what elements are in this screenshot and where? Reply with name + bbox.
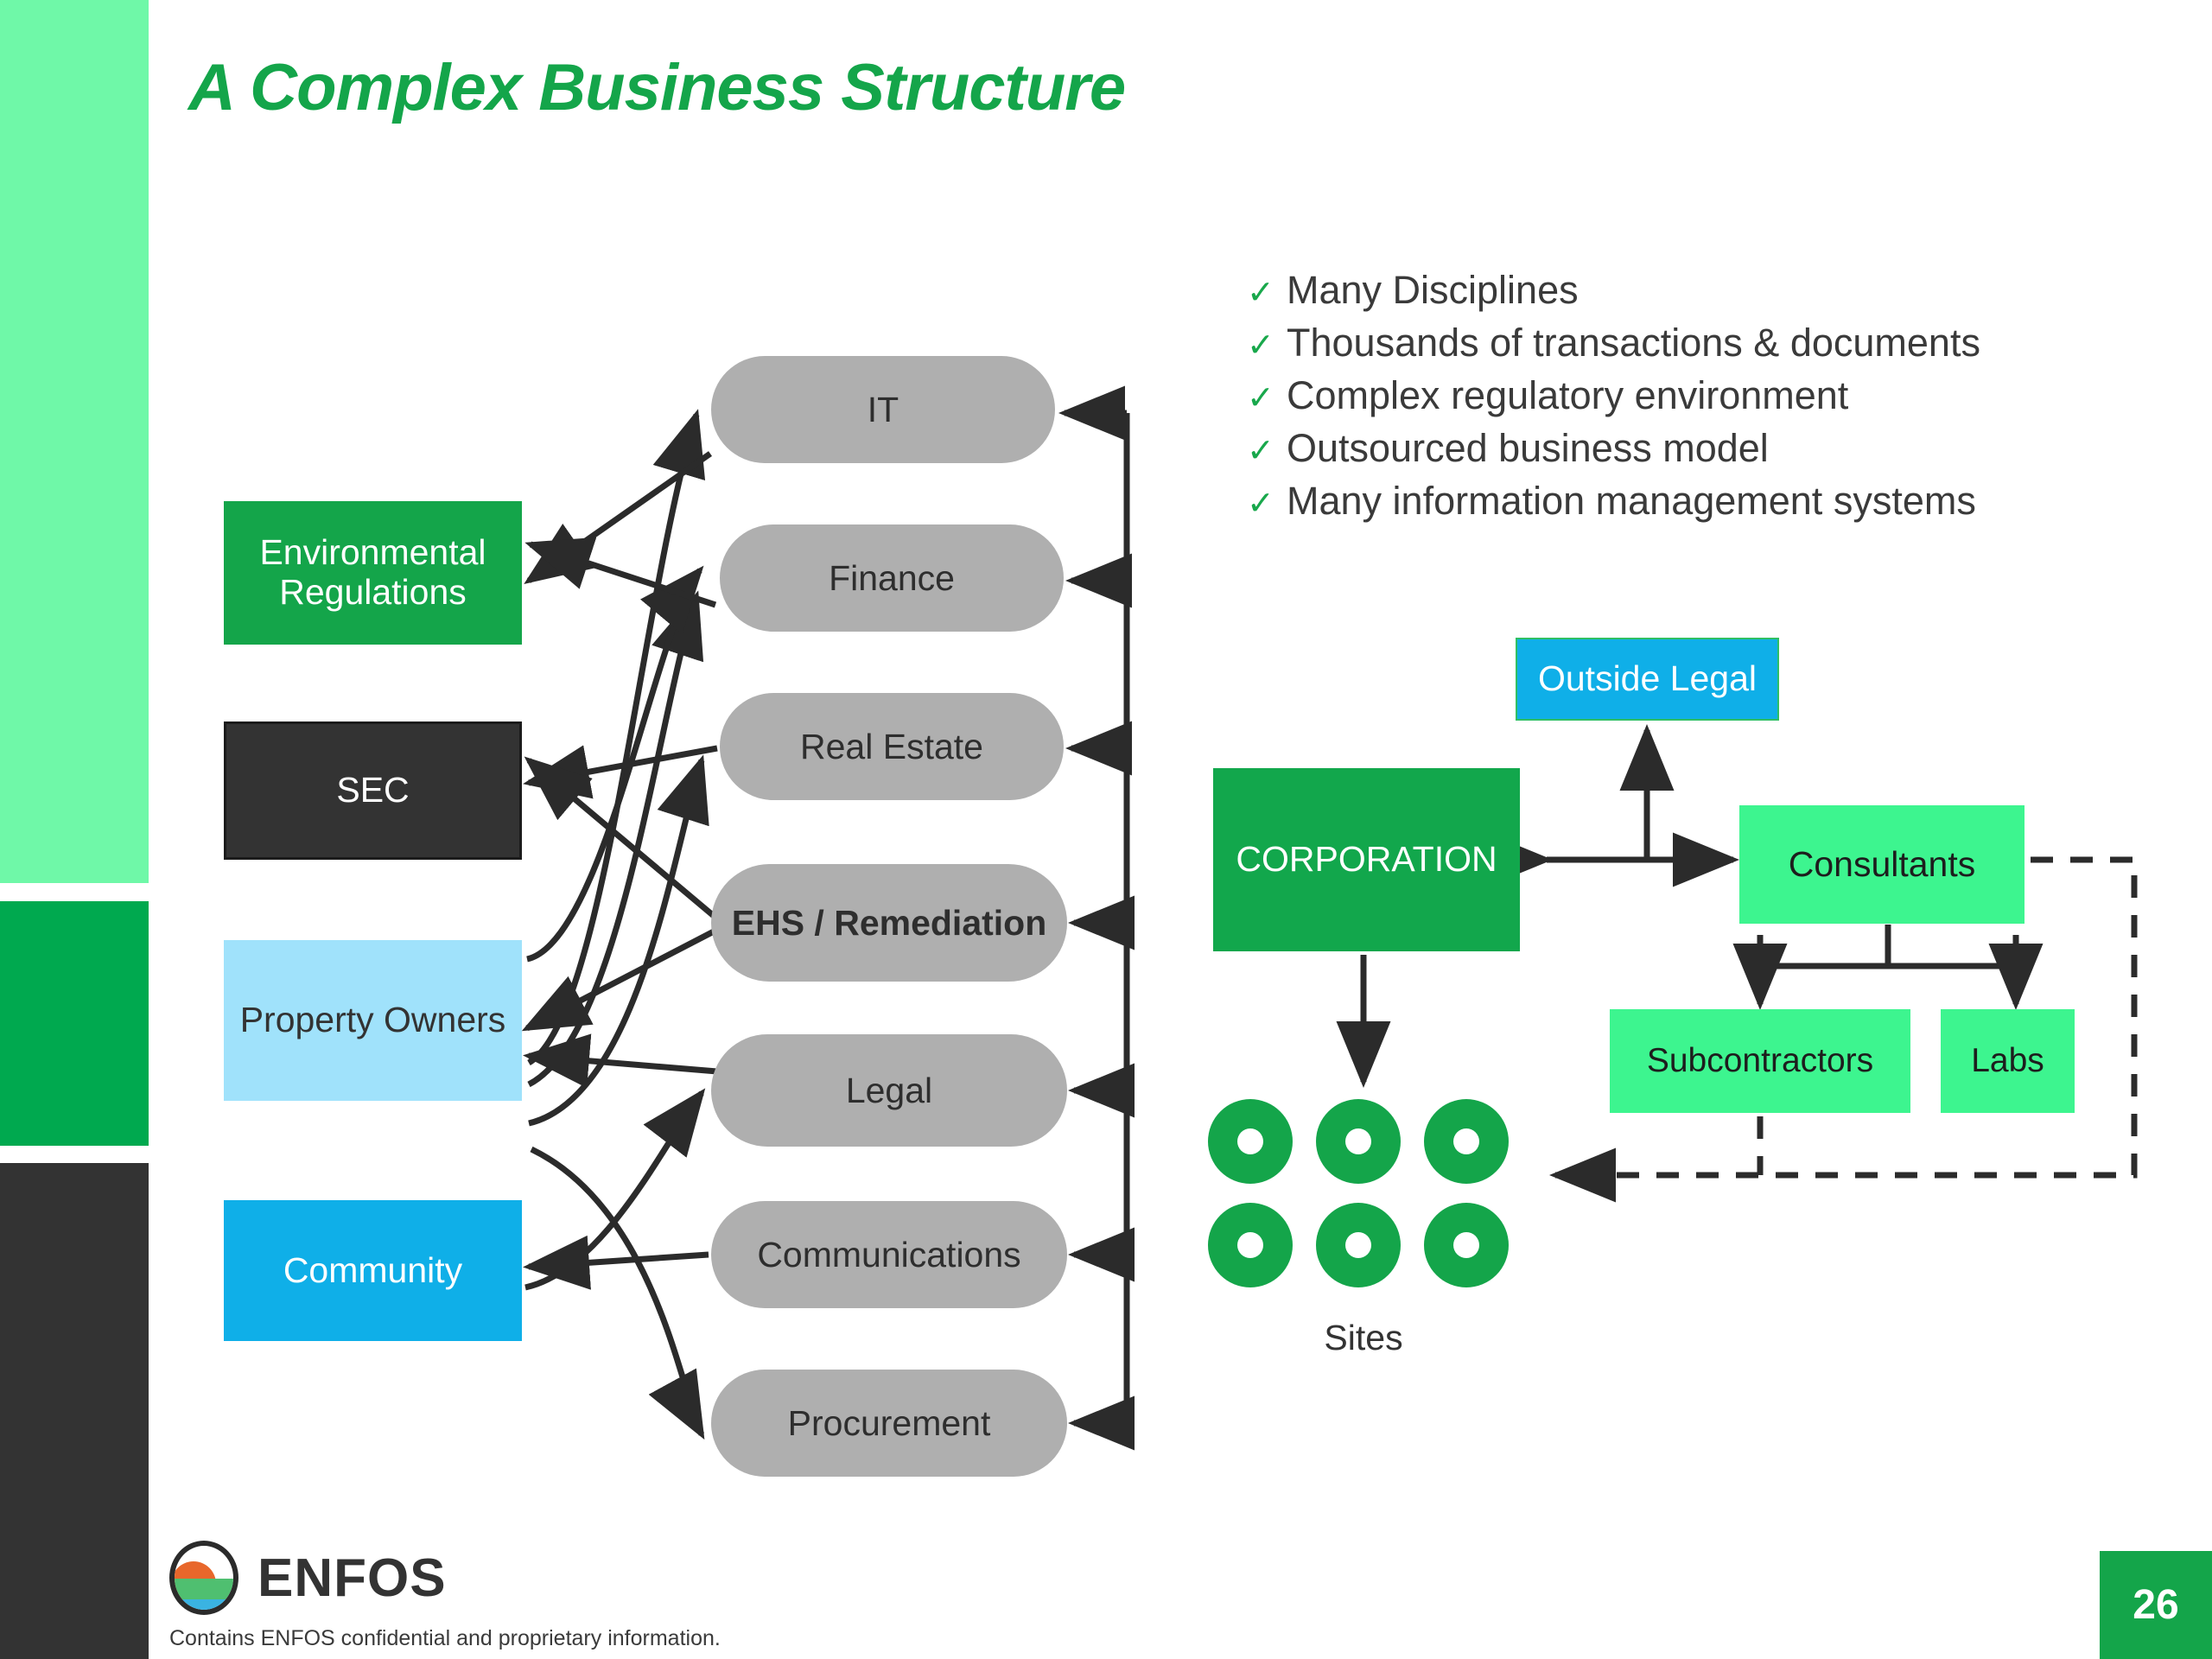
confidentiality-notice: Contains ENFOS confidential and propriet… xyxy=(169,1626,721,1651)
list-item: ✓ Complex regulatory environment xyxy=(1247,375,1980,417)
bullet-label: Complex regulatory environment xyxy=(1287,375,1848,416)
department-finance[interactable]: Finance xyxy=(720,524,1064,632)
site-icon xyxy=(1208,1203,1293,1287)
check-icon: ✓ xyxy=(1247,431,1287,470)
list-item: ✓ Many information management systems xyxy=(1247,480,1980,523)
enfos-logo: ENFOS xyxy=(169,1541,447,1615)
bullet-label: Many Disciplines xyxy=(1287,270,1579,311)
department-it[interactable]: IT xyxy=(711,356,1055,463)
list-item: ✓ Thousands of transactions & documents xyxy=(1247,322,1980,365)
site-icon xyxy=(1424,1203,1509,1287)
labs-box[interactable]: Labs xyxy=(1941,1009,2075,1113)
subcontractors-box[interactable]: Subcontractors xyxy=(1610,1009,1910,1113)
site-icon xyxy=(1316,1203,1401,1287)
sites-label: Sites xyxy=(1208,1318,1519,1358)
sites-group xyxy=(1208,1099,1519,1306)
corporation-box[interactable]: CORPORATION xyxy=(1213,768,1520,951)
stakeholder-community[interactable]: Community xyxy=(224,1200,522,1341)
site-icon xyxy=(1208,1099,1293,1184)
bullet-label: Many information management systems xyxy=(1287,480,1976,522)
site-row xyxy=(1208,1099,1519,1184)
slide-canvas: A Complex Business Structure ✓ Many Disc… xyxy=(0,0,2212,1659)
check-icon: ✓ xyxy=(1247,378,1287,417)
bullet-list: ✓ Many Disciplines ✓ Thousands of transa… xyxy=(1247,270,1980,533)
page-number-badge: 26 xyxy=(2100,1551,2212,1659)
page-title: A Complex Business Structure xyxy=(188,50,1125,125)
bullet-label: Thousands of transactions & documents xyxy=(1287,322,1980,364)
bullet-label: Outsourced business model xyxy=(1287,428,1769,469)
enfos-logo-icon xyxy=(169,1541,238,1615)
enfos-logo-text: ENFOS xyxy=(257,1548,447,1609)
check-icon: ✓ xyxy=(1247,273,1287,312)
site-row xyxy=(1208,1203,1519,1287)
decor-bar-dark xyxy=(0,1163,149,1659)
check-icon: ✓ xyxy=(1247,484,1287,523)
department-communications[interactable]: Communications xyxy=(711,1201,1067,1308)
stakeholder-property-owners[interactable]: Property Owners xyxy=(224,940,522,1101)
department-legal[interactable]: Legal xyxy=(711,1034,1067,1147)
decor-bar-light-green xyxy=(0,0,149,883)
department-ehs-remediation[interactable]: EHS / Remediation xyxy=(711,864,1067,982)
department-procurement[interactable]: Procurement xyxy=(711,1370,1067,1477)
list-item: ✓ Outsourced business model xyxy=(1247,428,1980,470)
department-real-estate[interactable]: Real Estate xyxy=(720,693,1064,800)
list-item: ✓ Many Disciplines xyxy=(1247,270,1980,312)
stakeholder-sec[interactable]: SEC xyxy=(224,721,522,860)
stakeholder-environmental-regulations[interactable]: Environmental Regulations xyxy=(224,501,522,645)
consultants-box[interactable]: Consultants xyxy=(1739,805,2024,924)
decor-bar-green xyxy=(0,901,149,1146)
check-icon: ✓ xyxy=(1247,326,1287,365)
site-icon xyxy=(1424,1099,1509,1184)
outside-legal-box[interactable]: Outside Legal xyxy=(1516,638,1779,721)
site-icon xyxy=(1316,1099,1401,1184)
